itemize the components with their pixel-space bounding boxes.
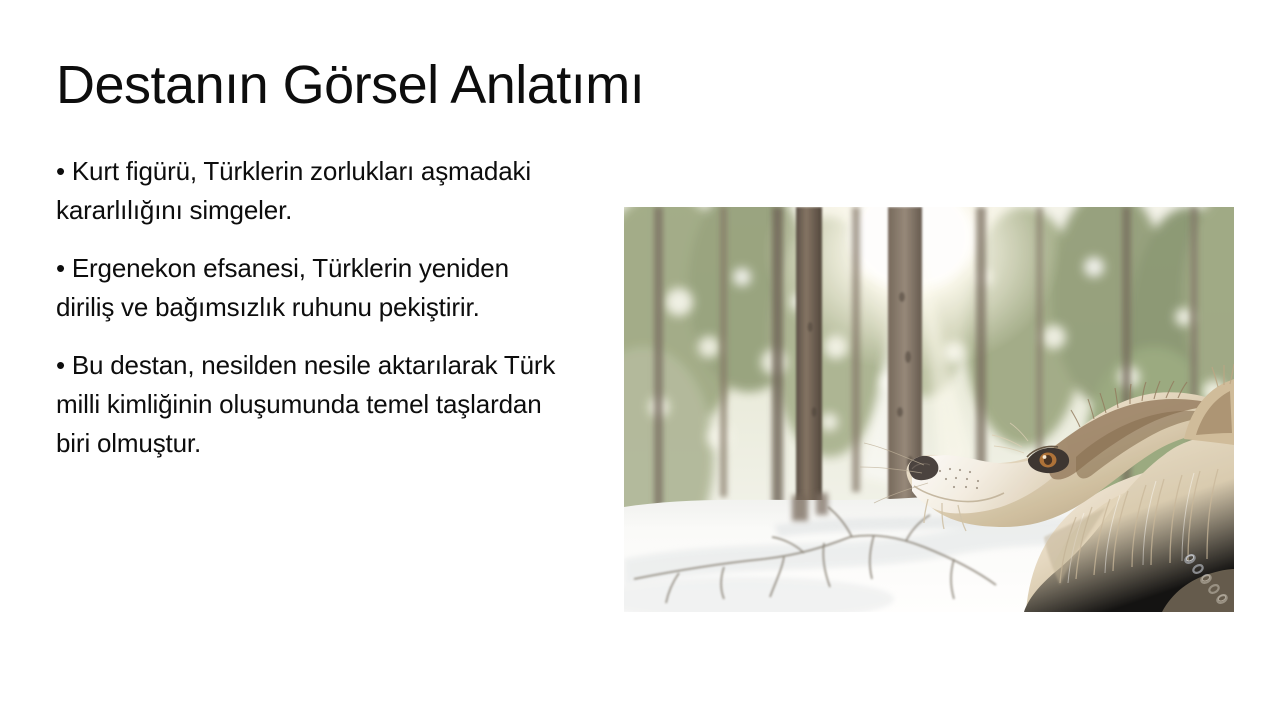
- presentation-slide: Destanın Görsel Anlatımı • Kurt figürü, …: [0, 0, 1280, 720]
- wolf-in-snowy-forest-photo: [624, 207, 1234, 612]
- bullet-item-1: • Kurt figürü, Türklerin zorlukları aşma…: [56, 152, 556, 230]
- bullet-item-2: • Ergenekon efsanesi, Türklerin yeniden …: [56, 249, 556, 327]
- bullet-list: • Kurt figürü, Türklerin zorlukları aşma…: [56, 152, 556, 463]
- wolf-forest-illustration: [624, 207, 1234, 612]
- bullet-item-3: • Bu destan, nesilden nesile aktarılarak…: [56, 346, 556, 463]
- page-title: Destanın Görsel Anlatımı: [56, 52, 1166, 118]
